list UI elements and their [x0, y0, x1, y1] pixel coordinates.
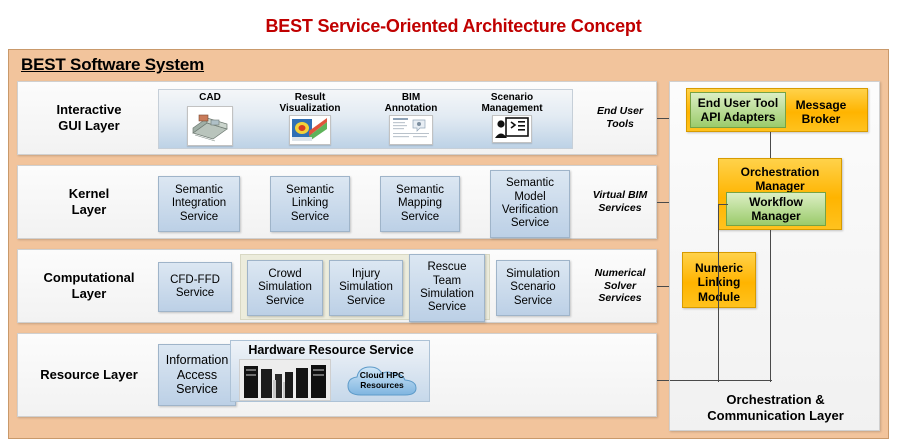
- service-crowd-simulation[interactable]: CrowdSimulationService: [247, 260, 323, 316]
- gui-tool-result-visualization[interactable]: ResultVisualization: [263, 92, 357, 148]
- service-information-access[interactable]: InformationAccessService: [158, 344, 236, 406]
- service-simulation-scenario[interactable]: SimulationScenarioService: [496, 260, 570, 316]
- end-user-tool-api-adapters-box[interactable]: End User ToolAPI Adapters: [690, 92, 786, 128]
- page-title: BEST Service-Oriented Architecture Conce…: [0, 16, 907, 37]
- cad-model-icon: [187, 106, 233, 146]
- orchestration-panel-caption: Orchestration &Communication Layer: [670, 392, 881, 425]
- gui-tool-scenario-management-label: ScenarioManagement: [465, 92, 559, 114]
- hardware-resource-service-title: Hardware Resource Service: [231, 343, 431, 357]
- service-semantic-model-verification[interactable]: SemanticModelVerificationService: [490, 170, 570, 238]
- layer-label-computational: ComputationalLayer: [24, 250, 154, 322]
- layer-tag-end-user-tools: End UserTools: [588, 82, 652, 154]
- connector-bottom-rail: [670, 380, 772, 381]
- connector-workflow-branch-vertical: [718, 204, 719, 382]
- workflow-manager-label: WorkflowManager: [749, 195, 803, 224]
- layer-label-resource: Resource Layer: [24, 334, 154, 416]
- connector-orch-down-trunk: [770, 230, 771, 382]
- orchestration-communication-panel: Message Broker End User ToolAPI Adapters…: [669, 81, 880, 431]
- gui-tool-result-visualization-label: ResultVisualization: [263, 92, 357, 114]
- layer-row-resource: Resource Layer InformationAccessService: [17, 333, 657, 417]
- layer-row-interactive-gui: InteractiveGUI Layer CAD: [17, 81, 657, 155]
- gui-tool-scenario-management[interactable]: ScenarioManagement: [465, 92, 559, 148]
- service-rescue-team-simulation[interactable]: RescueTeamSimulationService: [409, 254, 485, 322]
- best-software-system-frame: BEST Software System InteractiveGUI Laye…: [8, 49, 889, 439]
- service-semantic-mapping[interactable]: SemanticMappingService: [380, 176, 460, 232]
- scenario-management-icon: [492, 115, 532, 143]
- layer-label-interactive-gui: InteractiveGUI Layer: [24, 82, 154, 154]
- connector-workflow-branch-horizontal: [718, 204, 728, 205]
- service-cfd-ffd[interactable]: CFD-FFDService: [158, 262, 232, 312]
- end-user-tools-band: CAD ResultVisualization: [158, 89, 573, 149]
- workflow-manager-box[interactable]: WorkflowManager: [726, 192, 826, 226]
- layer-label-line1: InteractiveGUI Layer: [56, 102, 121, 135]
- layer-row-computational: ComputationalLayer CFD-FFDService CrowdS…: [17, 249, 657, 323]
- layer-row-kernel: KernelLayer SemanticIntegrationService S…: [17, 165, 657, 239]
- system-title: BEST Software System: [21, 55, 204, 75]
- end-user-tool-api-adapters-label: End User ToolAPI Adapters: [698, 96, 778, 125]
- hardware-resource-service-box[interactable]: Hardware Resource Service: [230, 340, 430, 402]
- gui-tool-cad[interactable]: CAD: [163, 92, 257, 148]
- service-semantic-linking[interactable]: SemanticLinkingService: [270, 176, 350, 232]
- local-hpc-resources-icon: Local HPC Resources: [239, 359, 331, 401]
- service-semantic-integration[interactable]: SemanticIntegrationService: [158, 176, 240, 232]
- message-broker-label: Message Broker: [775, 98, 867, 127]
- layer-tag-virtual-bim-services: Virtual BIMServices: [588, 166, 652, 238]
- orchestration-manager-label: OrchestrationManager: [719, 165, 841, 194]
- connector-broker-to-orchestration: [770, 132, 771, 158]
- gui-tool-cad-label: CAD: [163, 92, 257, 103]
- result-visualization-icon: [289, 115, 331, 145]
- bim-annotation-icon: [389, 115, 433, 145]
- layer-label-kernel: KernelLayer: [24, 166, 154, 238]
- layer-stack: InteractiveGUI Layer CAD: [17, 81, 657, 431]
- layer-tag-numerical-solver-services: NumericalSolverServices: [588, 250, 652, 322]
- cloud-hpc-resources-icon: Cloud HPCResources: [343, 361, 421, 401]
- gui-tool-bim-annotation-label: BIMAnnotation: [364, 92, 458, 114]
- gui-tool-bim-annotation[interactable]: BIMAnnotation: [364, 92, 458, 148]
- service-injury-simulation[interactable]: InjurySimulationService: [329, 260, 403, 316]
- cloud-hpc-resources-label: Cloud HPCResources: [343, 370, 421, 390]
